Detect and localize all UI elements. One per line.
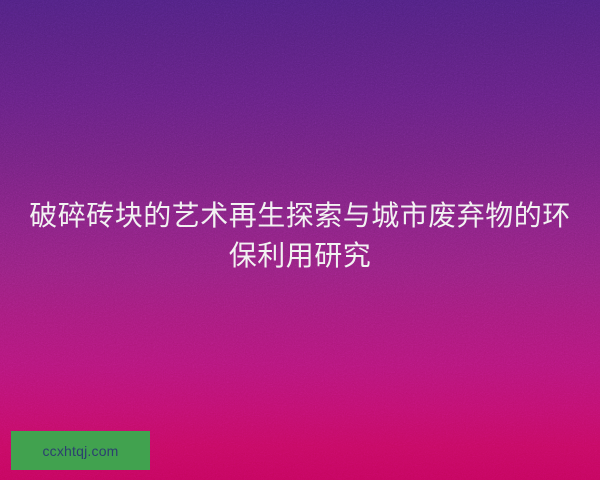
page-title: 破碎砖块的艺术再生探索与城市废弃物的环保利用研究 (24, 196, 576, 276)
watermark-badge[interactable]: ccxhtqj.com (11, 431, 150, 470)
banner-image: 破碎砖块的艺术再生探索与城市废弃物的环保利用研究 ccxhtqj.com (0, 0, 600, 480)
watermark-label: ccxhtqj.com (42, 444, 118, 458)
title-block: 破碎砖块的艺术再生探索与城市废弃物的环保利用研究 (0, 196, 600, 276)
